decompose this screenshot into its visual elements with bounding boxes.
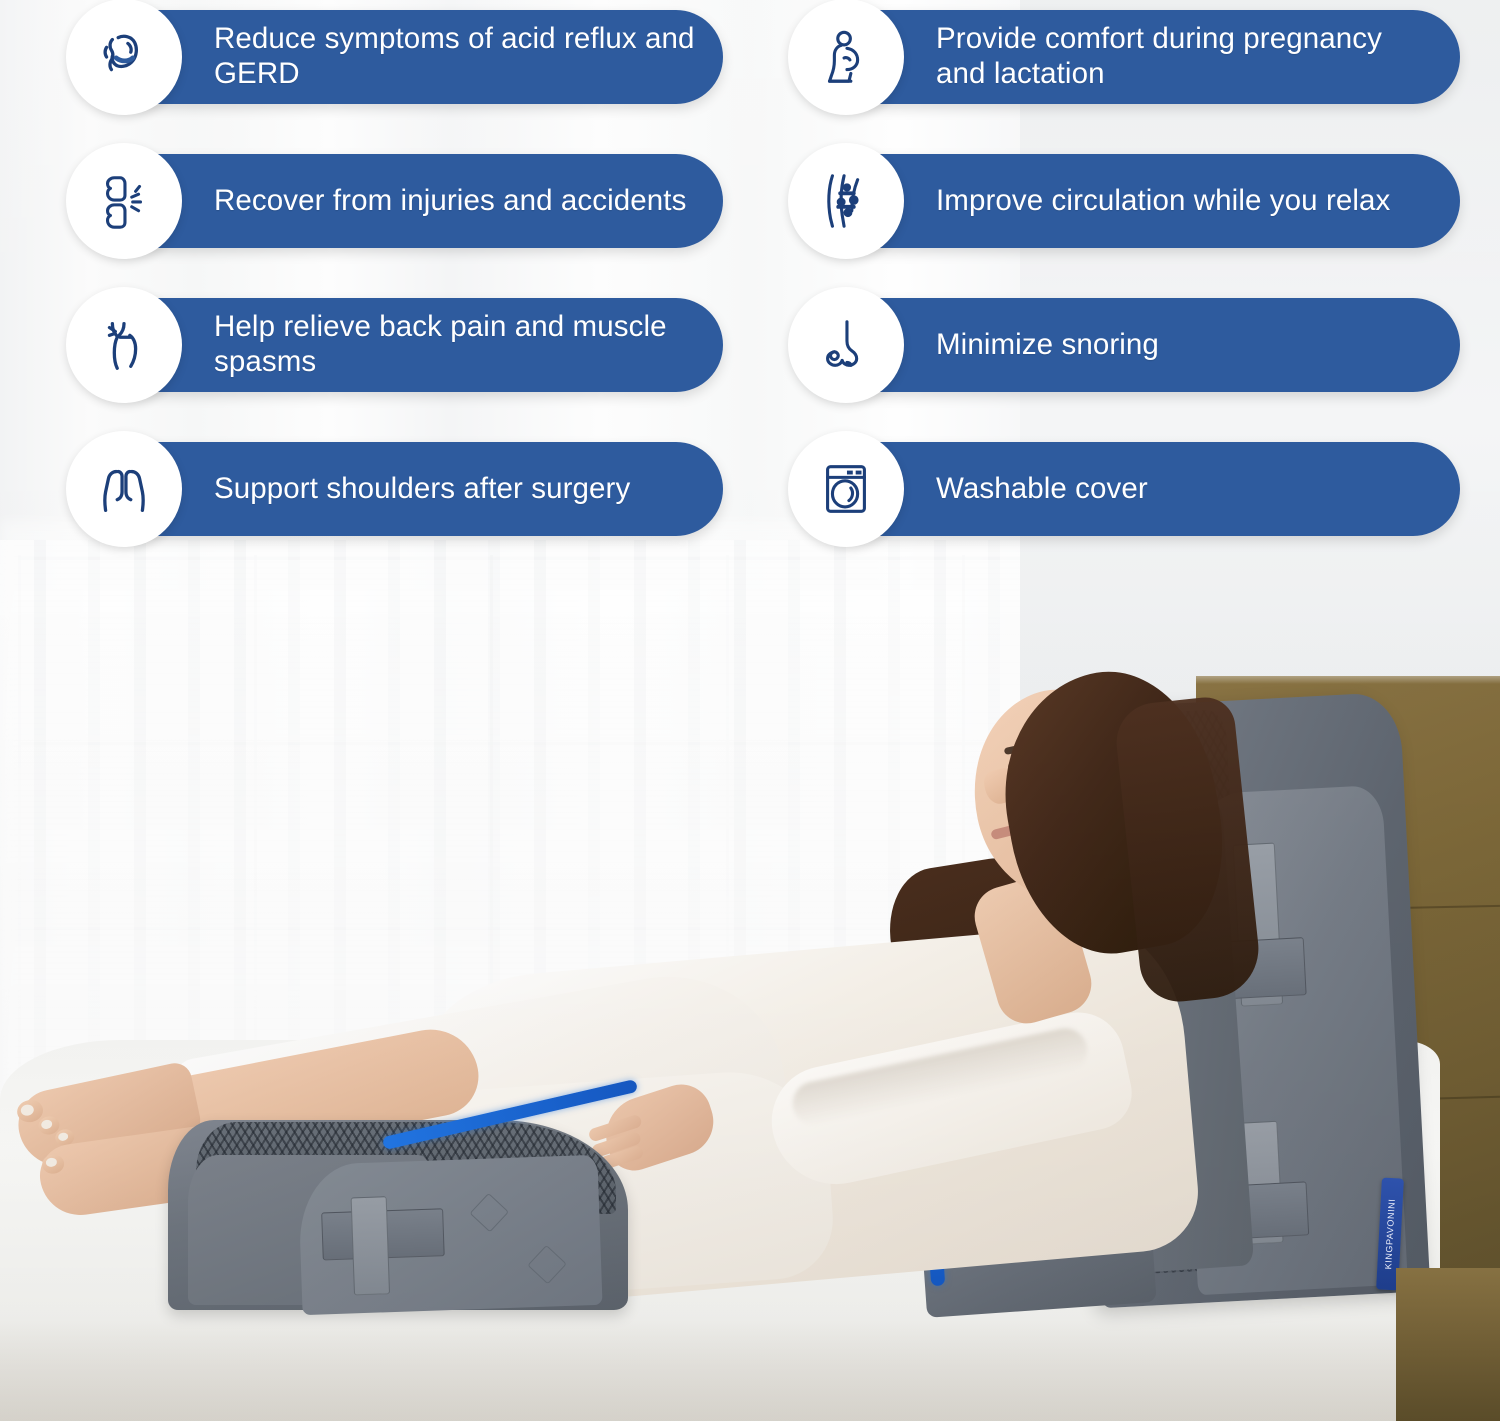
benefit-pill-snoring[interactable]: Minimize snoring [800, 298, 1460, 392]
benefit-pill-shoulder-surgery[interactable]: Support shoulders after surgery [78, 442, 723, 536]
benefit-pill-washable-cover[interactable]: Washable cover [800, 442, 1460, 536]
blood-circulation-icon [788, 143, 904, 259]
benefit-pill-pregnancy[interactable]: Provide comfort during pregnancy and lac… [800, 10, 1460, 104]
chevron-marking [527, 1245, 567, 1285]
benefit-label: Reduce symptoms of acid reflux and GERD [214, 22, 699, 92]
benefit-label: Improve circulation while you relax [936, 184, 1390, 219]
benefit-row: Support shoulders after surgery [0, 442, 1500, 554]
product-infographic: KINGPAVONINI [0, 0, 1500, 1421]
washing-machine-icon [788, 431, 904, 547]
benefit-pill-injury-recovery[interactable]: Recover from injuries and accidents [78, 154, 723, 248]
benefit-column-right: Minimize snoring [800, 298, 1460, 410]
benefit-label: Help relieve back pain and muscle spasms [214, 310, 699, 380]
benefit-pill-circulation[interactable]: Improve circulation while you relax [800, 154, 1460, 248]
benefit-column-right: Provide comfort during pregnancy and lac… [800, 10, 1460, 122]
benefit-row: Help relieve back pain and muscle spasms… [0, 298, 1500, 410]
wedge-foam-panel [297, 1155, 602, 1315]
benefit-column-left: Reduce symptoms of acid reflux and GERD [78, 10, 738, 122]
benefit-column-left: Recover from injuries and accidents [78, 154, 738, 266]
benefit-pill-back-pain[interactable]: Help relieve back pain and muscle spasms [78, 298, 723, 392]
benefit-row: Recover from injuries and accidents [0, 154, 1500, 266]
benefits-overlay: Reduce symptoms of acid reflux and GERD [0, 0, 1500, 560]
benefit-label: Recover from injuries and accidents [214, 184, 686, 219]
benefit-pill-acid-reflux[interactable]: Reduce symptoms of acid reflux and GERD [78, 10, 723, 104]
benefit-column-right: Improve circulation while you relax [800, 154, 1460, 266]
benefit-column-right: Washable cover [800, 442, 1460, 554]
nose-snoring-icon [788, 287, 904, 403]
benefit-label: Washable cover [936, 472, 1148, 507]
mattress-shadow [0, 1320, 1440, 1421]
bed-frame-edge [1396, 1268, 1500, 1421]
pregnant-woman-icon [788, 0, 904, 115]
knee-joint-pain-icon [66, 143, 182, 259]
spine-back-icon [66, 287, 182, 403]
benefit-column-left: Help relieve back pain and muscle spasms [78, 298, 738, 410]
benefit-column-left: Support shoulders after surgery [78, 442, 738, 554]
benefit-row: Reduce symptoms of acid reflux and GERD [0, 10, 1500, 122]
benefit-label: Minimize snoring [936, 328, 1159, 363]
benefit-label: Provide comfort during pregnancy and lac… [936, 22, 1436, 92]
shoulders-icon [66, 431, 182, 547]
stomach-icon [66, 0, 182, 115]
chevron-marking [469, 1193, 509, 1233]
brand-tag-text: KINGPAVONINI [1383, 1198, 1397, 1269]
benefit-label: Support shoulders after surgery [214, 472, 630, 507]
velcro-strip [351, 1196, 390, 1295]
